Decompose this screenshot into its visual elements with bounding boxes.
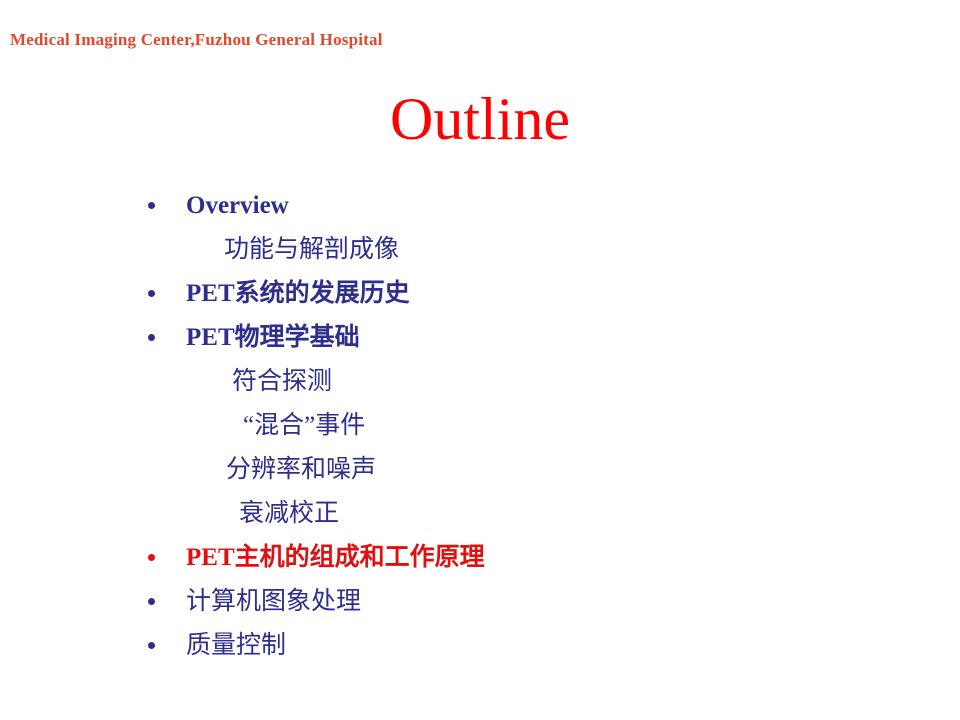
bullet-icon <box>148 623 170 667</box>
outline-item-label: 质量控制 <box>186 623 286 667</box>
outline-item-label: PET系统的发展历史 <box>186 271 410 315</box>
presentation-slide: Medical Imaging Center,Fuzhou General Ho… <box>0 0 960 720</box>
bullet-dot-icon <box>148 290 155 297</box>
bullet-icon <box>148 535 170 579</box>
bullet-dot-icon <box>148 334 155 341</box>
bullet-dot-icon <box>148 202 155 209</box>
bullet-dot-icon <box>148 642 155 649</box>
outline-list: Overview功能与解剖成像PET系统的发展历史PET物理学基础符合探测“混合… <box>0 183 960 667</box>
outline-item-label: 衰减校正 <box>239 491 339 535</box>
bullet-icon <box>148 183 170 227</box>
outline-item: 计算机图象处理 <box>0 579 960 623</box>
outline-item-label: 符合探测 <box>232 359 332 403</box>
outline-item-label: Overview <box>186 183 289 227</box>
outline-item: Overview <box>0 183 960 227</box>
bullet-icon <box>148 579 170 623</box>
outline-item: 分辨率和噪声 <box>0 447 960 491</box>
outline-item: PET主机的组成和工作原理 <box>0 535 960 579</box>
outline-item: 衰减校正 <box>0 491 960 535</box>
outline-item-label: 计算机图象处理 <box>186 579 361 623</box>
outline-item: 质量控制 <box>0 623 960 667</box>
bullet-dot-icon <box>148 554 155 561</box>
bullet-icon <box>148 315 170 359</box>
outline-item-label: PET主机的组成和工作原理 <box>186 535 485 579</box>
outline-item: 符合探测 <box>0 359 960 403</box>
page-title: Outline <box>0 88 960 151</box>
outline-item: “混合”事件 <box>0 403 960 447</box>
slide-header-institution: Medical Imaging Center,Fuzhou General Ho… <box>10 30 383 50</box>
outline-item: 功能与解剖成像 <box>0 227 960 271</box>
outline-item: PET系统的发展历史 <box>0 271 960 315</box>
outline-item-label: “混合”事件 <box>243 403 365 447</box>
outline-item: PET物理学基础 <box>0 315 960 359</box>
outline-item-label: PET物理学基础 <box>186 315 360 359</box>
bullet-icon <box>148 271 170 315</box>
outline-item-label: 功能与解剖成像 <box>224 227 399 271</box>
outline-item-label: 分辨率和噪声 <box>226 447 376 491</box>
bullet-dot-icon <box>148 598 155 605</box>
